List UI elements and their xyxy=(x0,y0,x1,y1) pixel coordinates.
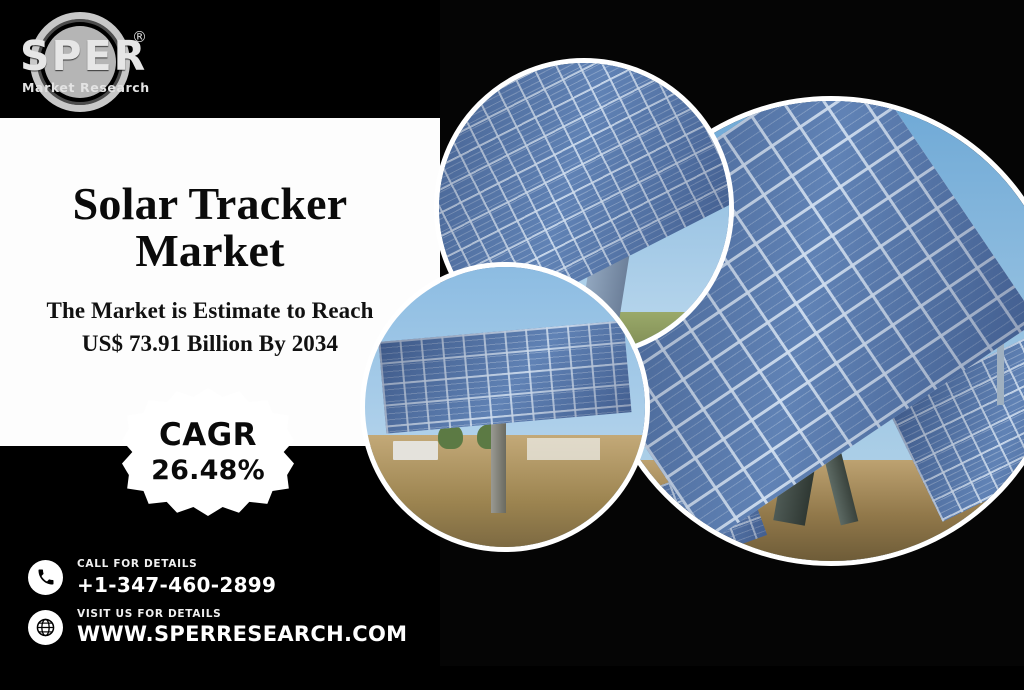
phone-number[interactable]: +1-347-460-2899 xyxy=(77,573,276,597)
hero-text-block: Solar Tracker Market The Market is Estim… xyxy=(0,180,420,359)
phone-label: CALL FOR DETAILS xyxy=(77,558,276,571)
background-structures xyxy=(527,438,600,460)
globe-icon xyxy=(28,610,63,645)
logo-tagline: Market Research xyxy=(14,80,174,95)
brand-logo[interactable]: SPER Market Research ® xyxy=(14,10,174,114)
phone-icon xyxy=(28,560,63,595)
cagr-label: CAGR xyxy=(159,420,257,451)
page-title-line1: Solar Tracker xyxy=(0,180,420,227)
hero-subtitle-line1: The Market is Estimate to Reach xyxy=(0,295,420,326)
contact-row-phone[interactable]: CALL FOR DETAILS +1-347-460-2899 xyxy=(28,558,407,597)
cagr-badge: CAGR 26.48% xyxy=(122,388,294,516)
black-frame-bottom xyxy=(0,666,1024,690)
logo-text-group: SPER Market Research xyxy=(14,36,174,95)
contact-footer: CALL FOR DETAILS +1-347-460-2899 VISIT U… xyxy=(28,558,407,658)
website-label: VISIT US FOR DETAILS xyxy=(77,608,407,621)
page-title-line2: Market xyxy=(0,227,420,274)
tracker-center-pole xyxy=(491,418,506,513)
infographic-card: SPER Market Research ® Solar Tracker Mar… xyxy=(0,0,1024,690)
cagr-value: 26.48% xyxy=(151,457,265,484)
logo-brand-name: SPER xyxy=(14,36,174,77)
contact-row-website[interactable]: VISIT US FOR DETAILS WWW.SPERRESEARCH.CO… xyxy=(28,608,407,648)
hero-subtitle-line2: US$ 73.91 Billion By 2034 xyxy=(0,328,420,359)
photo-circle-pole-tracker xyxy=(360,262,650,552)
background-building xyxy=(393,441,438,461)
website-url[interactable]: WWW.SPERRESEARCH.COM xyxy=(77,622,407,647)
